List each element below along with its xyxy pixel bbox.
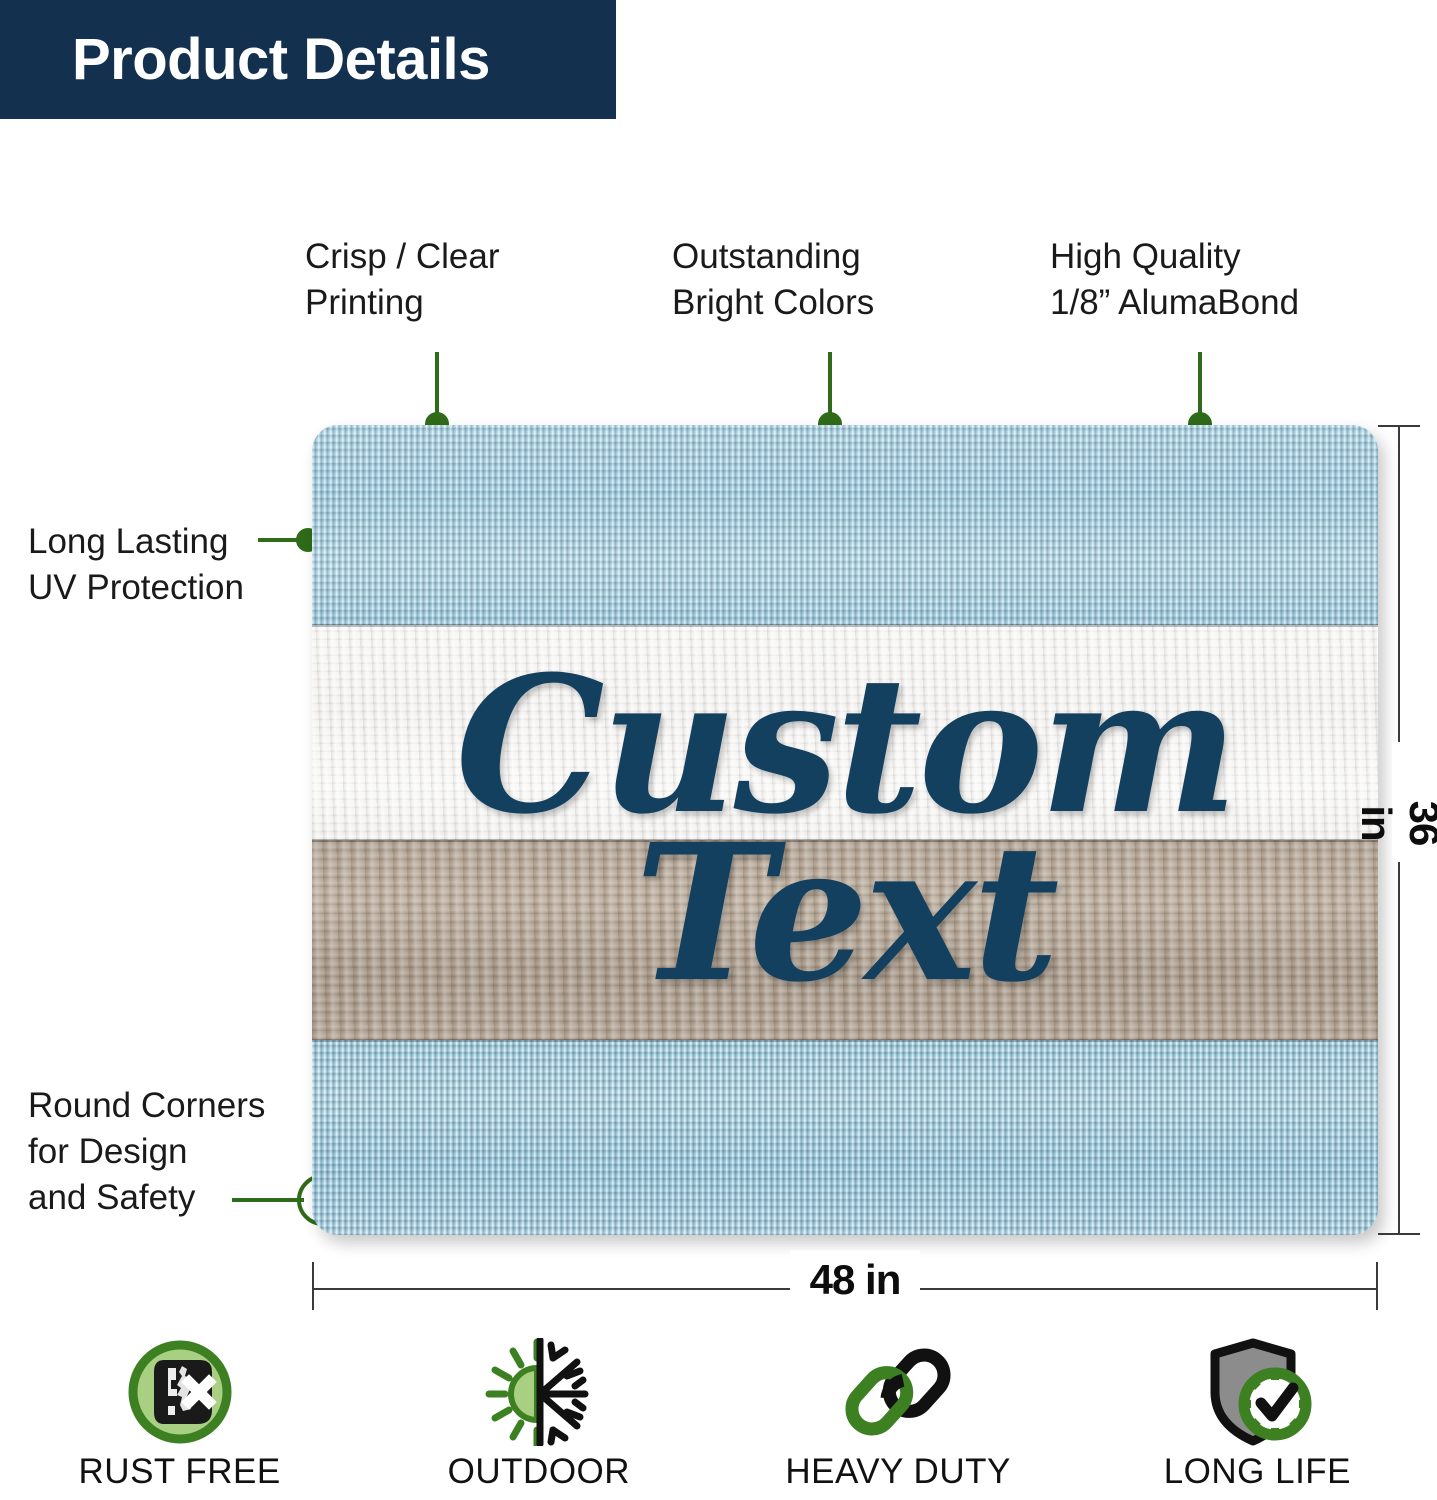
leader-line-round-corner xyxy=(232,1198,304,1202)
feature-label-rust-free: RUST FREE xyxy=(79,1452,281,1492)
sign-plank-gray-brown-wood xyxy=(312,840,1378,1040)
sun-snowflake-icon xyxy=(479,1338,599,1446)
feature-label-heavy-duty: HEAVY DUTY xyxy=(785,1452,1010,1492)
callout-long-lasting-uv-protection: Long Lasting UV Protection xyxy=(28,519,244,611)
dimension-label-width: 48 in xyxy=(790,1256,920,1304)
callout-high-quality-alumabond: High Quality 1/8” AlumaBond xyxy=(1050,234,1299,326)
feature-outdoor: OUTDOOR xyxy=(359,1338,718,1500)
page-title: Product Details xyxy=(72,31,490,89)
sign-plank-whitewashed-wood xyxy=(312,625,1378,840)
feature-label-long-life: LONG LIFE xyxy=(1164,1452,1351,1492)
plank-seam xyxy=(312,1039,1378,1042)
plank-seam xyxy=(312,839,1378,842)
sign-plank-weathered-blue-top xyxy=(312,425,1378,625)
dimension-tick-right xyxy=(1376,1262,1378,1310)
feature-heavy-duty: HEAVY DUTY xyxy=(719,1338,1078,1500)
callout-round-corners: Round Corners for Design and Safety xyxy=(28,1083,265,1222)
feature-long-life: LONG LIFE xyxy=(1078,1338,1437,1500)
dimension-tick-bottom xyxy=(1378,1233,1420,1235)
plank-seam xyxy=(312,624,1378,627)
chain-link-icon xyxy=(844,1338,952,1446)
dimension-tick-top xyxy=(1378,425,1420,427)
shield-clock-icon xyxy=(1201,1338,1313,1446)
feature-label-outdoor: OUTDOOR xyxy=(448,1452,630,1492)
dimension-tick-left xyxy=(312,1262,314,1310)
sign-plank-weathered-blue-bottom xyxy=(312,1040,1378,1235)
rust-free-icon xyxy=(126,1338,234,1446)
feature-rust-free: RUST FREE xyxy=(0,1338,359,1500)
dimension-label-height: 36 in xyxy=(1352,797,1437,849)
callout-crisp-clear-printing: Crisp / Clear Printing xyxy=(305,234,499,326)
product-sign-preview[interactable]: Custom Text xyxy=(312,425,1378,1235)
callout-outstanding-bright-colors: Outstanding Bright Colors xyxy=(672,234,874,326)
header-banner: Product Details xyxy=(0,0,616,119)
feature-badge-row: RUST FREE xyxy=(0,1338,1437,1500)
